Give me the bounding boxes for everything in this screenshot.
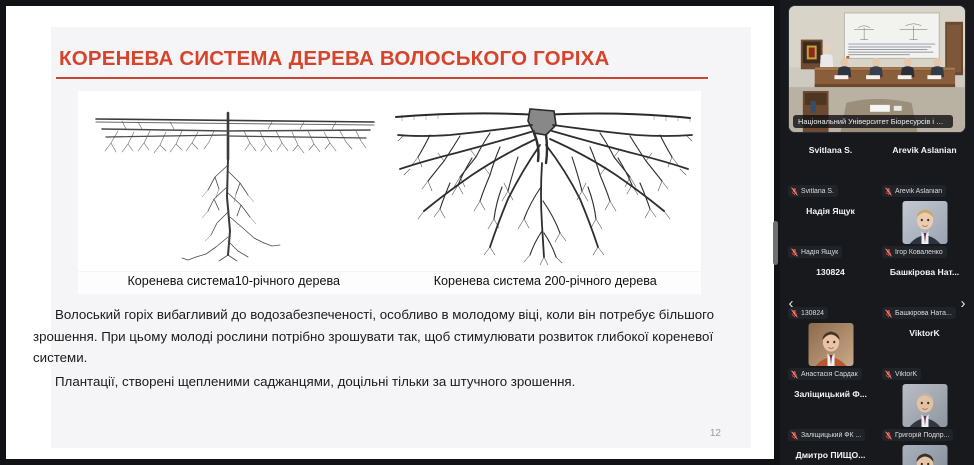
caption-young-tree: Коренева система10-річного дерева (78, 272, 390, 294)
participant-badge-label: Arevik Aslanian (895, 188, 942, 195)
participant-grid: Svitlana S.Svitlana S.Arevik AslanianAre… (780, 139, 974, 465)
participant-video-thumbnail (902, 201, 947, 244)
participant-display-name: Заліщицький Ф... (786, 389, 875, 399)
microphone-muted-icon (885, 309, 892, 318)
participant-tile[interactable]: Дмитро ПИЩО...Дмитро ПИЩО... (786, 444, 875, 465)
body-paragraph-1: Волоський горіх вибагливий до водозабезп… (33, 304, 733, 369)
microphone-muted-icon (791, 370, 798, 379)
participant-name-badge: Надія Ящук (788, 246, 842, 258)
participant-badge-label: Анастасія Сардак (801, 371, 858, 378)
participant-badge-label: Svitlana S. (801, 188, 834, 195)
participant-badge-label: ViktorK (895, 371, 917, 378)
participant-name-badge: Заліщицький ФК ... (788, 429, 865, 441)
presentation-slide: КОРЕНЕВА СИСТЕМА ДЕРЕВА ВОЛОСЬКОГО ГОРІХ… (51, 27, 751, 448)
presenter-name-label: Національний Університет Біоресурсів і П… (793, 115, 953, 128)
participant-badge-label: Григорій Подпр... (895, 432, 949, 439)
participant-badge-label: Заліщицький ФК ... (801, 432, 861, 439)
participant-name-badge: Григорій Подпр... (882, 429, 953, 441)
participant-tile[interactable]: Володимир Насі... (880, 444, 969, 465)
participant-display-name: ViktorK (880, 328, 969, 338)
participant-display-name: Arevik Aslanian (880, 145, 969, 155)
stage-scrollbar[interactable] (773, 6, 778, 459)
microphone-muted-icon (791, 248, 798, 257)
microphone-muted-icon (885, 431, 892, 440)
participant-video-thumbnail (902, 384, 947, 427)
slide-frame: КОРЕНЕВА СИСТЕМА ДЕРЕВА ВОЛОСЬКОГО ГОРІХ… (6, 6, 774, 459)
stage-scrollbar-thumb[interactable] (773, 221, 778, 265)
mature-tree-root-illustration (390, 91, 701, 271)
shared-screen-presenter-tile[interactable]: Національний Університет Біоресурсів і П… (788, 5, 966, 133)
conference-hall-video (789, 6, 965, 133)
participant-tile[interactable]: ViktorKViktorK (880, 322, 969, 383)
microphone-muted-icon (885, 187, 892, 196)
participant-tile[interactable]: Svitlana S.Svitlana S. (786, 139, 875, 200)
participant-tile[interactable]: Григорій Подпр... (880, 383, 969, 444)
chevron-left-icon[interactable]: ‹ (782, 293, 800, 315)
participant-badge-label: Ігор Коваленко (895, 249, 943, 256)
participant-display-name: Svitlana S. (786, 145, 875, 155)
participant-badge-label: Надія Ящук (801, 249, 838, 256)
microphone-muted-icon (791, 187, 798, 196)
microphone-muted-icon (885, 248, 892, 257)
participant-name-badge: Анастасія Сардак (788, 368, 862, 380)
video-conference-window: КОРЕНЕВА СИСТЕМА ДЕРЕВА ВОЛОСЬКОГО ГОРІХ… (0, 0, 974, 465)
young-tree-root-illustration (78, 91, 390, 271)
slide-title: КОРЕНЕВА СИСТЕМА ДЕРЕВА ВОЛОСЬКОГО ГОРІХ… (59, 47, 719, 71)
caption-mature-tree: Коренева система 200-річного дерева (390, 272, 702, 294)
participant-name-badge: ViktorK (882, 368, 921, 380)
participant-badge-label: 130824 (801, 310, 824, 317)
participant-tile[interactable]: Arevik AslanianArevik Aslanian (880, 139, 969, 200)
root-system-figures (78, 91, 701, 271)
participant-tile[interactable]: Анастасія Сардак (786, 322, 875, 383)
title-underline-rule (56, 77, 708, 79)
figure-captions: Коренева система10-річного дерева Корене… (78, 272, 701, 294)
body-paragraph-2: Плантації, створені щепленими саджанцями… (33, 371, 733, 393)
participant-tile[interactable]: Заліщицький Ф...Заліщицький ФК ... (786, 383, 875, 444)
participant-badge-label: Башкірова Ната... (895, 310, 952, 317)
participant-video-thumbnail (808, 323, 853, 366)
participant-sidebar: Національний Університет Біоресурсів і П… (780, 0, 974, 465)
shared-screen-stage[interactable]: КОРЕНЕВА СИСТЕМА ДЕРЕВА ВОЛОСЬКОГО ГОРІХ… (0, 0, 780, 465)
slide-number: 12 (710, 428, 721, 439)
participant-name-badge: Башкірова Ната... (882, 307, 956, 319)
chevron-right-icon[interactable]: › (954, 293, 972, 315)
participant-display-name: Дмитро ПИЩО... (786, 450, 875, 460)
slide-body-text: Волоський горіх вибагливий до водозабезп… (33, 304, 733, 392)
participant-video-thumbnail (902, 445, 947, 465)
participant-name-badge: Ігор Коваленко (882, 246, 947, 258)
participant-name-badge: Arevik Aslanian (882, 185, 946, 197)
participant-display-name: 130824 (786, 267, 875, 277)
microphone-muted-icon (885, 370, 892, 379)
participant-display-name: Надія Ящук (786, 206, 875, 216)
participant-tile[interactable]: Надія ЯщукНадія Ящук (786, 200, 875, 261)
participant-tile[interactable]: Ігор Коваленко (880, 200, 969, 261)
participant-name-badge: Svitlana S. (788, 185, 838, 197)
microphone-muted-icon (791, 431, 798, 440)
participant-display-name: Башкірова Нат... (880, 267, 969, 277)
